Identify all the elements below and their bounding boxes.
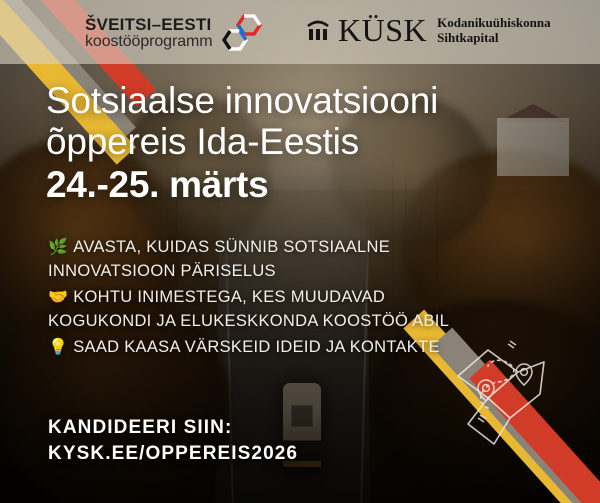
cta-label: Kandideeri siin: bbox=[48, 415, 448, 441]
herb-icon: 🌿 bbox=[48, 239, 68, 256]
benefit-list: 🌿Avasta, kuidas sünnib sotsiaalne innova… bbox=[48, 236, 468, 362]
list-item: 🌿Avasta, kuidas sünnib sotsiaalne innova… bbox=[48, 236, 468, 284]
folded-map-with-pins-illustration bbox=[448, 332, 576, 452]
title-line-1: Sotsiaalse innovatsiooni bbox=[46, 80, 556, 121]
list-item: 💡Saad kaasa värskeid ideid ja kontakte bbox=[48, 336, 468, 360]
list-item-label: Avasta, kuidas sünnib sotsiaalne innovat… bbox=[48, 238, 390, 280]
list-item-label: Saad kaasa värskeid ideid ja kontakte bbox=[73, 338, 440, 356]
handshake-icon: 🤝 bbox=[48, 289, 68, 306]
title-line-2: õppereis Ida-Eestis bbox=[46, 121, 556, 162]
cta-url[interactable]: kysk.ee/oppereis2026 bbox=[48, 441, 448, 467]
list-item-label: Kohtu inimestega, kes muudavad kogukondi… bbox=[48, 288, 449, 330]
poster-content: Sotsiaalse innovatsiooni õppereis Ida-Ee… bbox=[0, 0, 600, 503]
light-bulb-icon: 💡 bbox=[48, 339, 68, 356]
list-item: 🤝Kohtu inimestega, kes muudavad kogukond… bbox=[48, 286, 468, 334]
call-to-action[interactable]: Kandideeri siin: kysk.ee/oppereis2026 bbox=[48, 415, 448, 466]
event-poster: ŠVEITSI–EESTI koostööprogramm KÜSK Kodan… bbox=[0, 0, 600, 503]
event-date: 24.-25. märts bbox=[46, 165, 268, 206]
page-title: Sotsiaalse innovatsiooni õppereis Ida-Ee… bbox=[46, 80, 556, 163]
